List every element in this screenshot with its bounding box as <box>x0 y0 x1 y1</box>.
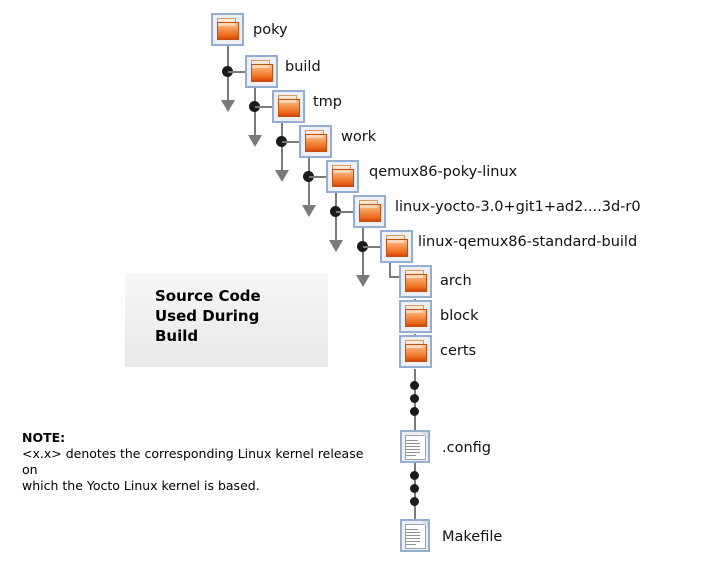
tree-node-label: .config <box>442 441 491 456</box>
ellipsis-dot-1 <box>410 381 419 390</box>
connector-hline-build-tmp <box>255 106 272 108</box>
arrowhead-tmp <box>275 170 289 182</box>
folder-icon <box>399 300 432 333</box>
connector-hline-linuxyocto-standardbuild <box>363 246 380 248</box>
diagram-canvas: poky build tmp work qemux86-poky-linux l… <box>0 0 705 581</box>
ellipsis-dot-5 <box>410 484 419 493</box>
arrowhead-build <box>248 135 262 147</box>
folder-icon <box>399 265 432 298</box>
connector-hline-tmp-work <box>282 141 299 143</box>
arrowhead-work <box>302 205 316 217</box>
tree-node-label: linux-yocto-3.0+git1+ad2....3d-r0 <box>395 200 641 215</box>
folder-icon <box>399 335 432 368</box>
connector-hline-work-qemux86 <box>309 176 326 178</box>
document-icon <box>400 430 430 463</box>
connector-hline-qemux86-linuxyocto <box>336 211 353 213</box>
tree-node-label: tmp <box>313 95 342 110</box>
tree-node-label: certs <box>440 344 476 359</box>
folder-icon <box>299 125 332 158</box>
note-body: <x.x> denotes the corresponding Linux ke… <box>22 446 382 494</box>
arrowhead-poky <box>221 100 235 112</box>
source-code-callout: Source Code Used During Build <box>125 273 328 367</box>
tree-node-label: Makefile <box>442 530 502 545</box>
folder-icon <box>245 55 278 88</box>
tree-node-label: work <box>341 130 376 145</box>
arrowhead-linuxyocto <box>356 275 370 287</box>
folder-icon <box>211 13 244 46</box>
ellipsis-dot-6 <box>410 497 419 506</box>
tree-node-label: linux-qemux86-standard-build <box>418 235 637 250</box>
tree-node-label: arch <box>440 274 472 289</box>
note-block: NOTE: <x.x> denotes the corresponding Li… <box>22 430 382 494</box>
connector-hline-poky-build <box>228 71 245 73</box>
document-icon <box>400 519 430 552</box>
arrowhead-qemux86 <box>329 240 343 252</box>
tree-node-label: poky <box>253 23 288 38</box>
tree-node-label: build <box>285 60 321 75</box>
folder-icon <box>353 195 386 228</box>
folder-icon <box>326 160 359 193</box>
folder-icon <box>380 230 413 263</box>
ellipsis-dot-2 <box>410 394 419 403</box>
callout-text: Source Code Used During Build <box>155 286 261 346</box>
note-title: NOTE: <box>22 430 382 446</box>
tree-node-label: qemux86-poky-linux <box>369 165 517 180</box>
ellipsis-dot-3 <box>410 407 419 416</box>
ellipsis-dot-4 <box>410 471 419 480</box>
tree-node-label: block <box>440 309 478 324</box>
folder-icon <box>272 90 305 123</box>
